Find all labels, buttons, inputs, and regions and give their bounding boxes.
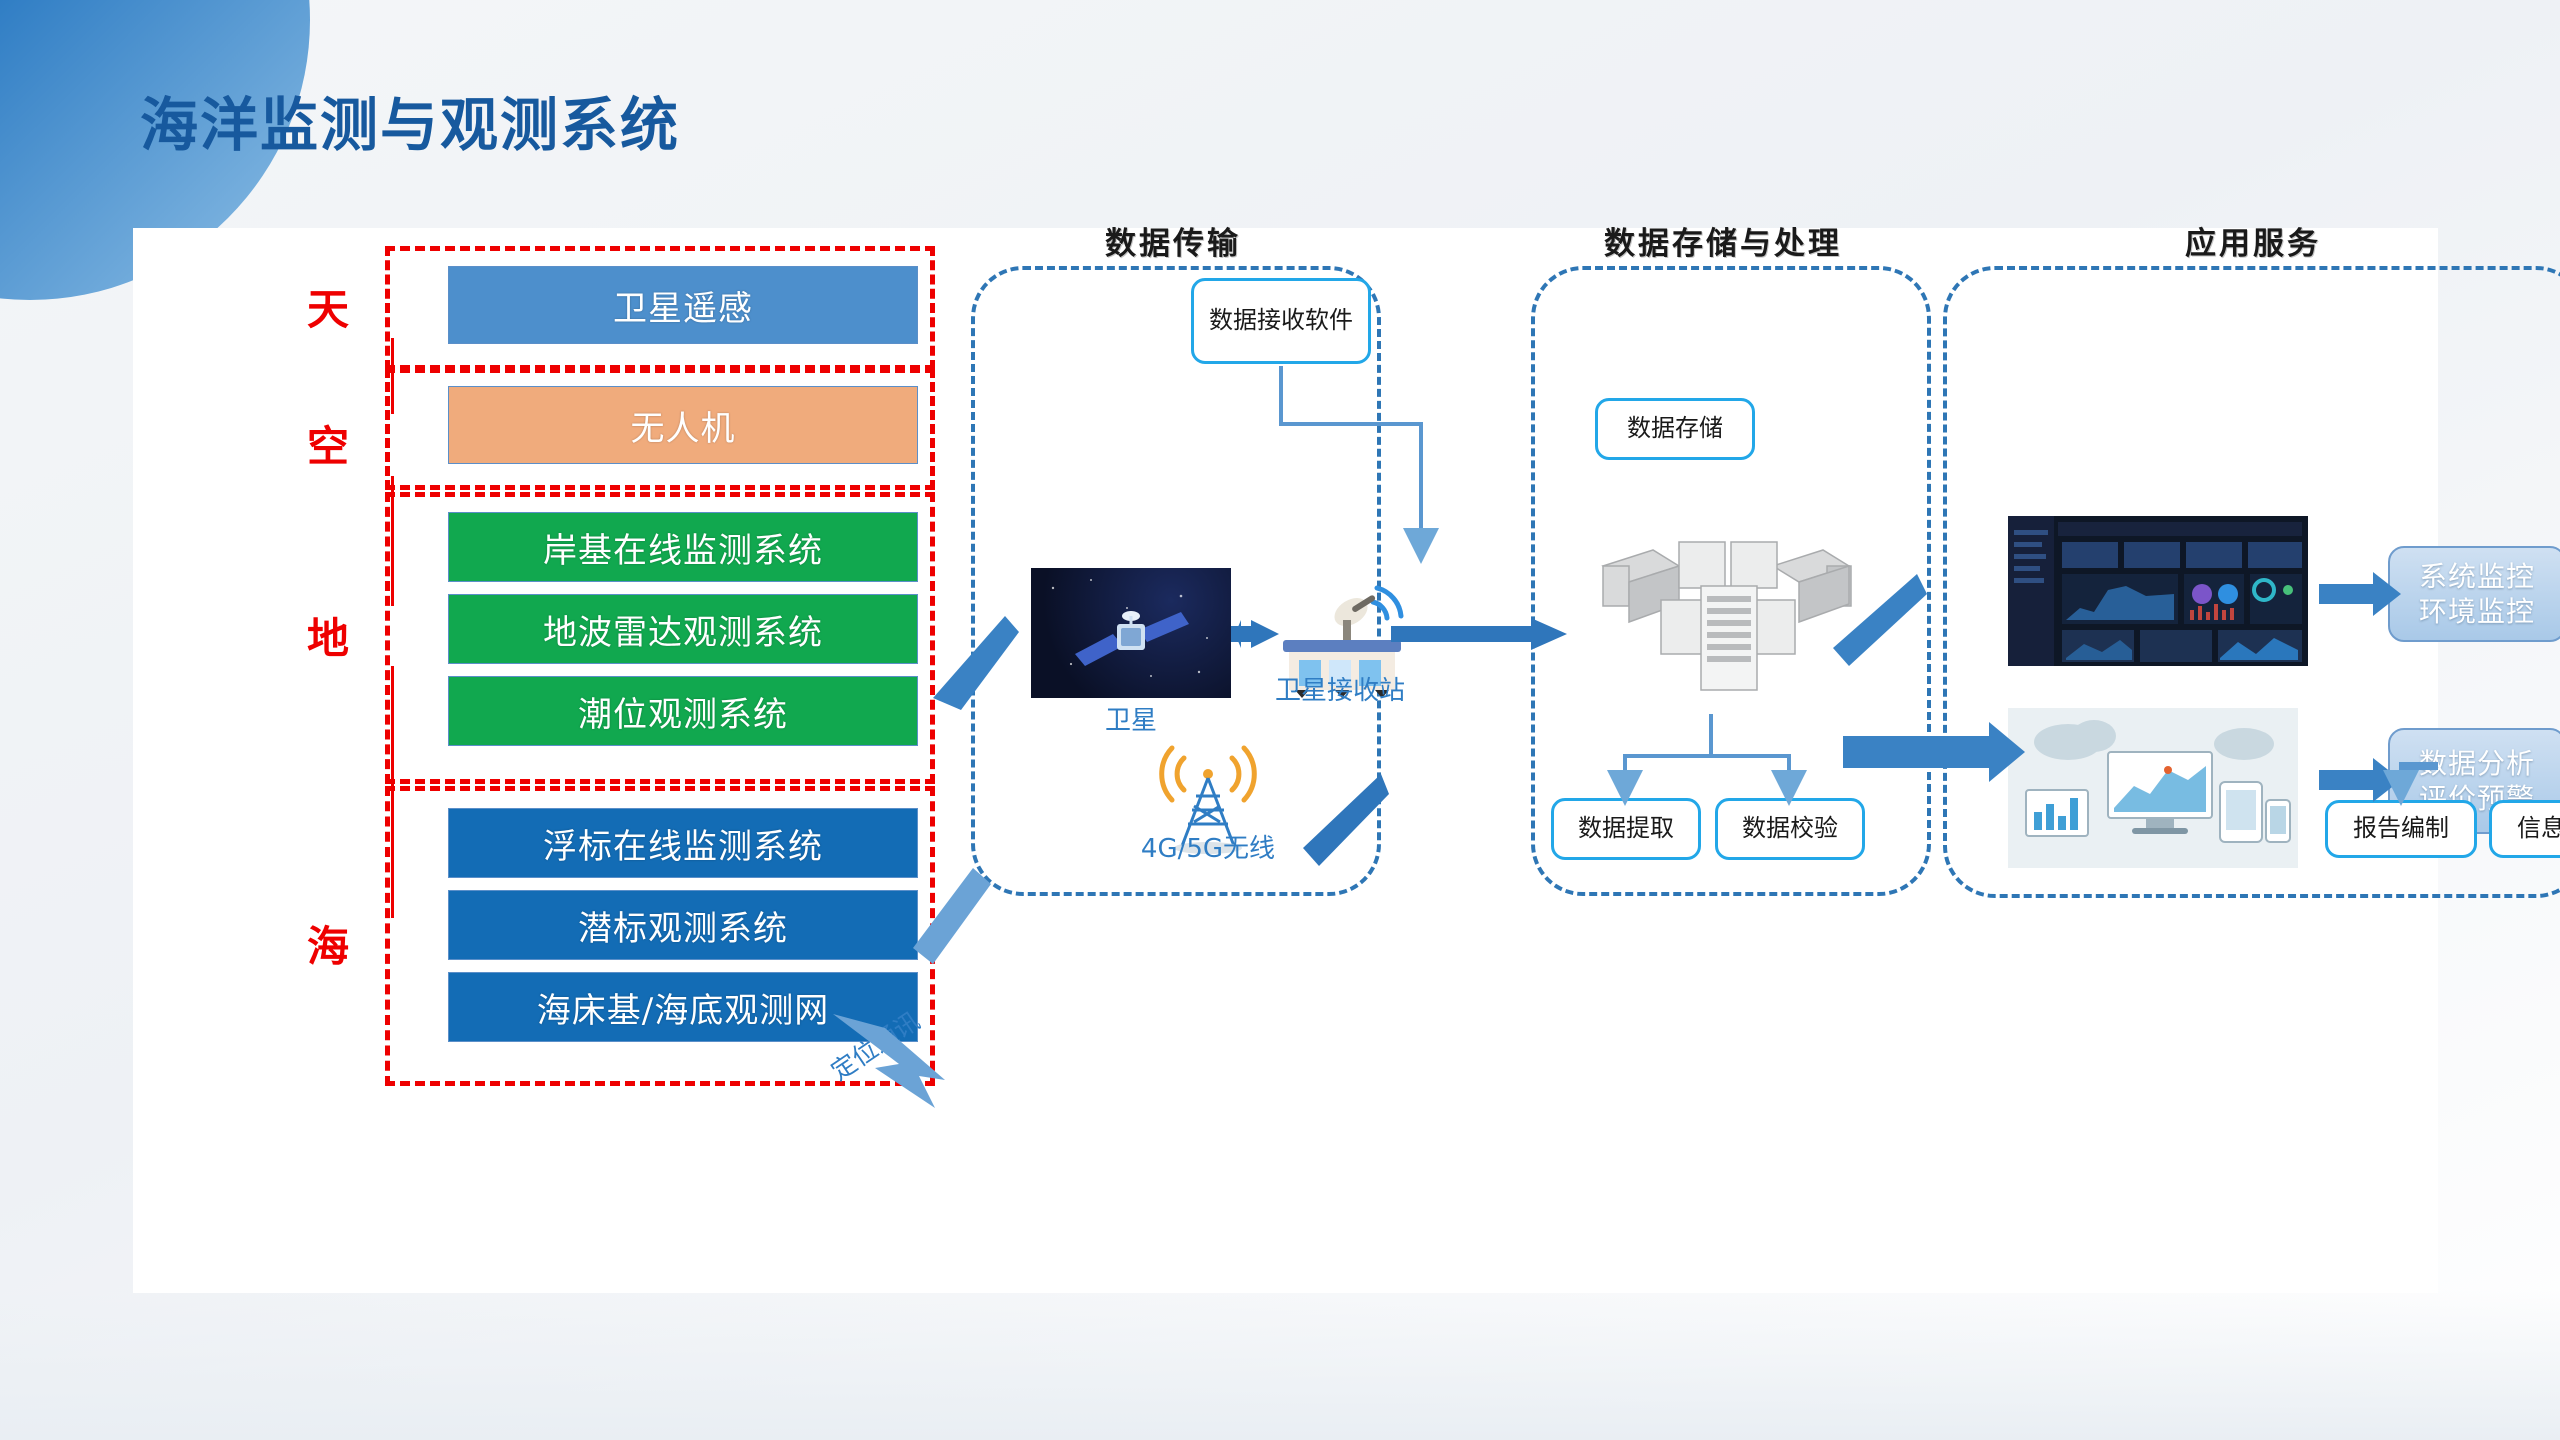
box-system-environment-monitoring[interactable]: 系统监控 环境监控: [2388, 546, 2560, 642]
system-box-subsurface-mooring[interactable]: 潜标观测系统: [448, 890, 918, 960]
pill-data-storage[interactable]: 数据存储: [1595, 398, 1755, 460]
diagram-canvas: 天 空 地 海 卫星遥感 无人机 岸基在线监测系统 地波雷达观测系统 潮位观测系…: [133, 228, 2438, 1293]
dashboard-screenshot: [2008, 516, 2308, 666]
stage-title-storage: 数据存储与处理: [1513, 218, 1933, 263]
pill-receiver-software[interactable]: 数据接收软件: [1191, 278, 1371, 364]
system-box-shore-based-monitoring[interactable]: 岸基在线监测系统: [448, 512, 918, 582]
layer-label-ground: 地: [298, 605, 358, 666]
pill-data-verification-label: 数据校验: [1742, 815, 1838, 843]
page-title: 海洋监测与观测系统: [140, 78, 680, 162]
layer-label-air: 空: [298, 413, 358, 474]
server-cluster-image: [1583, 508, 1873, 708]
stage-title-application: 应用服务: [2113, 218, 2393, 263]
system-box-ground-wave-radar[interactable]: 地波雷达观测系统: [448, 594, 918, 664]
slide-background: 海洋监测与观测系统 天 空 地 海 卫星遥感 无人机 岸基在线监测系统 地波雷达…: [0, 0, 2560, 1440]
layer-label-sea: 海: [298, 913, 358, 974]
pill-information-release[interactable]: 信息发布: [2489, 800, 2560, 858]
pill-report-compilation-label: 报告编制: [2353, 815, 2449, 843]
pill-information-release-label: 信息发布: [2517, 815, 2560, 843]
pill-data-extraction[interactable]: 数据提取: [1551, 798, 1701, 860]
system-box-seabed-observation-net[interactable]: 海床基/海底观测网: [448, 972, 918, 1042]
pill-data-verification[interactable]: 数据校验: [1715, 798, 1865, 860]
system-box-uav[interactable]: 无人机: [448, 386, 918, 464]
caption-ground-station: 卫星接收站: [1265, 676, 1415, 707]
satellite-image: [1031, 568, 1231, 698]
pill-receiver-software-label: 数据接收软件: [1203, 307, 1359, 335]
box-system-environment-monitoring-label: 系统监控 环境监控: [2419, 559, 2535, 629]
caption-wireless: 4G/5G无线: [1118, 834, 1298, 865]
devices-cloud-image: [2008, 708, 2298, 868]
system-box-buoy-monitoring[interactable]: 浮标在线监测系统: [448, 808, 918, 878]
system-box-satellite-remote-sensing[interactable]: 卫星遥感: [448, 266, 918, 344]
stage-title-transmission: 数据传输: [1043, 218, 1303, 263]
decorative-bottom-gradient: [0, 1290, 2560, 1440]
system-box-tide-observation[interactable]: 潮位观测系统: [448, 676, 918, 746]
layer-label-sky: 天: [298, 276, 358, 337]
pill-report-compilation[interactable]: 报告编制: [2325, 800, 2477, 858]
pill-data-extraction-label: 数据提取: [1578, 815, 1674, 843]
pill-data-storage-label: 数据存储: [1627, 415, 1723, 443]
